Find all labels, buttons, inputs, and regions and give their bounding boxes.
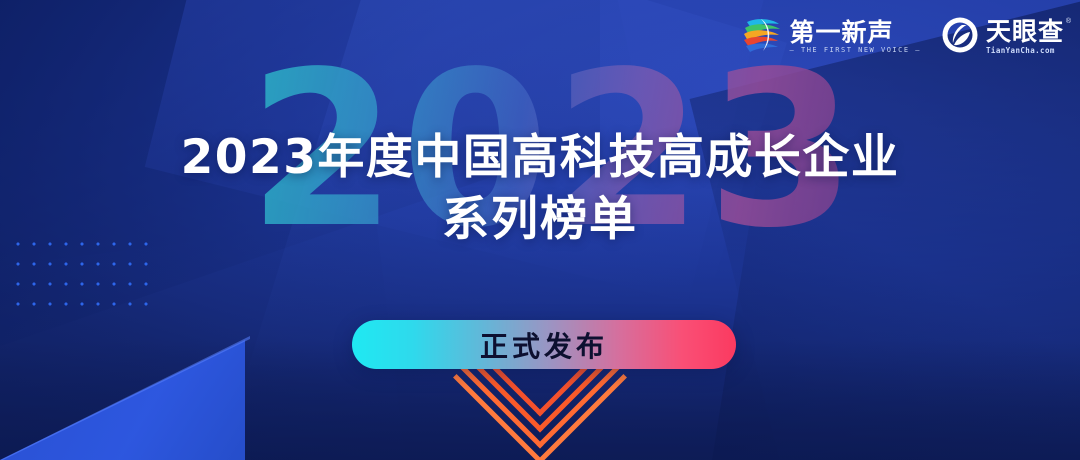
release-status-label: 正式发布 bbox=[480, 325, 608, 365]
logo-tianyancha-domain: TianYanCha.com bbox=[986, 46, 1064, 55]
release-status-pill[interactable]: 正式发布 bbox=[352, 320, 736, 369]
registered-mark-icon: ® bbox=[1066, 18, 1071, 25]
swoosh-logo-mark bbox=[741, 15, 783, 60]
banner-title: 2023年度中国高科技高成长企业 系列榜单 bbox=[0, 132, 1080, 248]
title-line-2: 系列榜单 bbox=[0, 192, 1080, 248]
title-line-1: 2023年度中国高科技高成长企业 bbox=[0, 132, 1080, 185]
logo-first-new-voice[interactable]: 第一新声 — THE FIRST NEW VOICE — bbox=[741, 15, 921, 60]
logo-first-new-voice-text: 第一新声 — THE FIRST NEW VOICE — bbox=[790, 20, 921, 55]
aperture-logo-mark bbox=[941, 16, 979, 59]
logo-tianyancha-cn: 天眼查 bbox=[986, 19, 1064, 45]
logo-tianyancha-text: 天眼查 ® TianYanCha.com bbox=[986, 19, 1064, 55]
promo-banner: 2023 第一新声 — THE FIRST NEW VOICE — bbox=[0, 0, 1080, 460]
logo-first-new-voice-tagline: — THE FIRST NEW VOICE — bbox=[790, 46, 921, 54]
logo-bar: 第一新声 — THE FIRST NEW VOICE — 天眼查 ® TianY… bbox=[741, 14, 1064, 60]
logo-first-new-voice-cn: 第一新声 bbox=[790, 20, 921, 46]
logo-tianyancha[interactable]: 天眼查 ® TianYanCha.com bbox=[941, 16, 1064, 59]
